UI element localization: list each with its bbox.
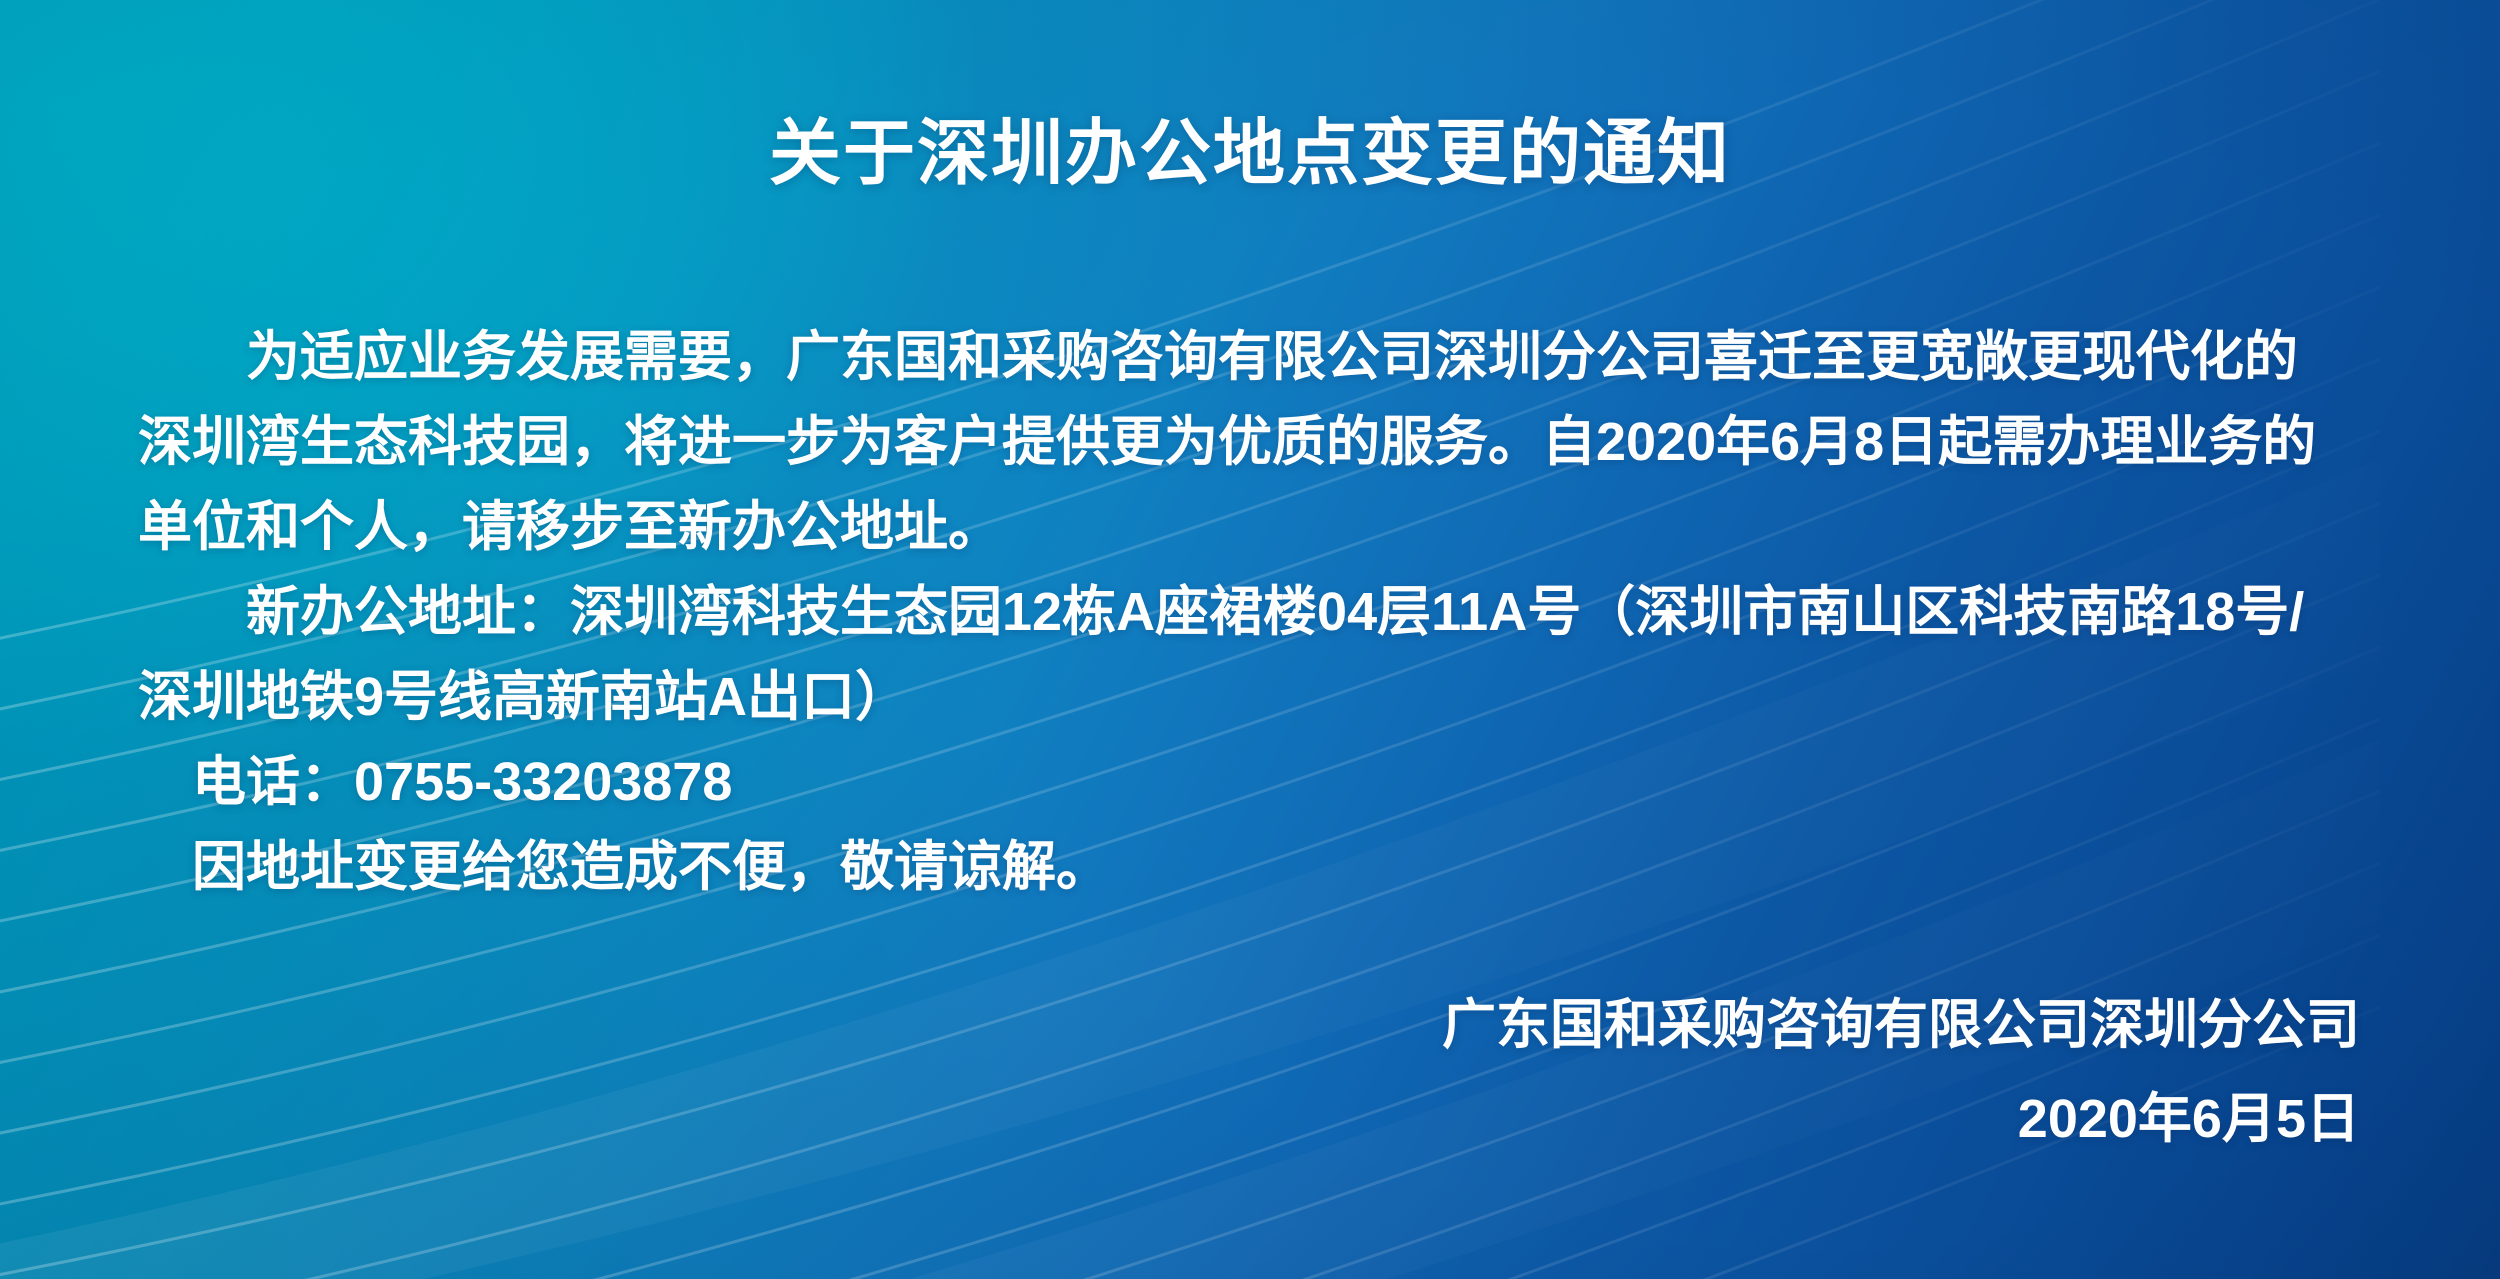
notice-body: 为适应业务发展需要，广东国和采购咨询有限公司深圳分公司喜迁至更宽敞更现代化的 深… <box>138 315 2368 910</box>
signature-block: 广东国和采购咨询有限公司深圳分公司 2020年6月5日 <box>1442 978 2360 1166</box>
phone-line: 电话：0755-33203878 <box>138 740 2368 825</box>
body-line-1: 为适应业务发展需要，广东国和采购咨询有限公司深圳分公司喜迁至更宽敞更现代化的 <box>138 315 2368 400</box>
apology-line: 因地址变更给您造成不便，敬请谅解。 <box>138 825 2368 910</box>
signature-company: 广东国和采购咨询有限公司深圳分公司 <box>1442 978 2360 1072</box>
body-line-3: 单位和个人，请移步至新办公地址。 <box>138 485 2368 570</box>
page-title: 关于深圳办公地点变更的通知 <box>0 118 2500 190</box>
signature-date: 2020年6月5日 <box>1442 1072 2360 1166</box>
notice-content: 关于深圳办公地点变更的通知 为适应业务发展需要，广东国和采购咨询有限公司深圳分公… <box>0 0 2500 1279</box>
address-line-1: 新办公地址：深圳湾科技生态园12栋A座裙楼04层11A号（深圳市南山区科技南路1… <box>138 570 2368 655</box>
body-line-2: 深圳湾生态科技园，将进一步为客户提供更为优质的服务。自2020年6月8日起需办理… <box>138 400 2368 485</box>
notice-poster: 关于深圳办公地点变更的通知 为适应业务发展需要，广东国和采购咨询有限公司深圳分公… <box>0 0 2500 1279</box>
address-line-2: 深圳地铁9号线高新南站A出口） <box>138 655 2368 740</box>
